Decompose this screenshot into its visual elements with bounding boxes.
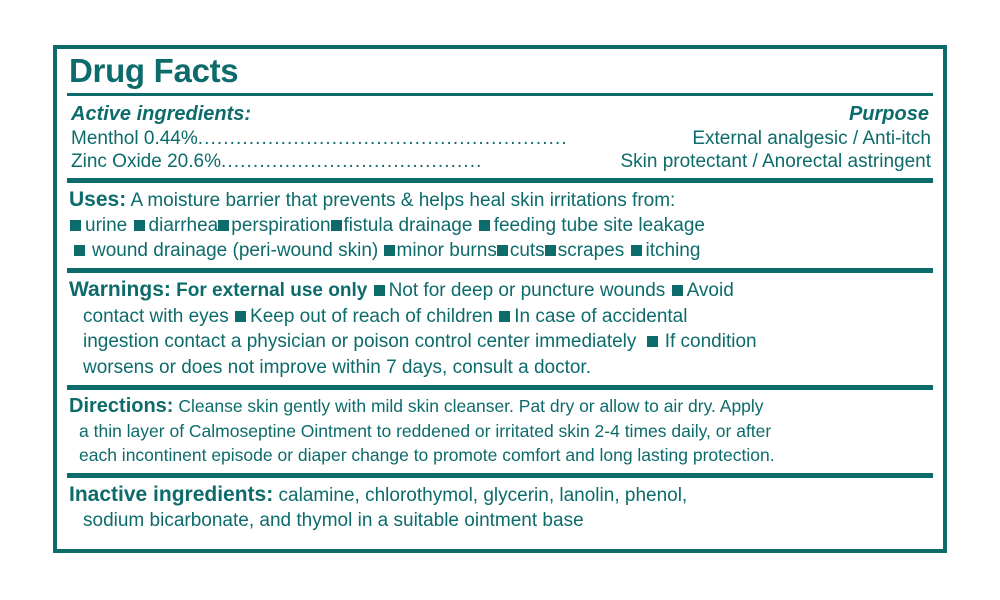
- square-bullet-icon: [545, 245, 556, 256]
- leader-dots: ........................................…: [198, 127, 693, 150]
- uses-items-line-2: wound drainage (peri-wound skin) minor b…: [69, 238, 931, 263]
- warnings-line-4: worsens or does not improve within 7 day…: [69, 355, 931, 381]
- ingredient-purpose: Skin protectant / Anorectal astringent: [620, 150, 931, 173]
- inactive-ingredients-label: Inactive ingredients:: [69, 483, 273, 506]
- directions-label: Directions:: [69, 395, 173, 417]
- square-bullet-icon: [479, 220, 490, 231]
- warning-item: worsens or does not improve within 7 day…: [83, 357, 591, 378]
- section-directions: Directions: Cleanse skin gently with mil…: [57, 390, 943, 473]
- active-ingredient-row: Menthol 0.44% ..........................…: [69, 127, 931, 150]
- ingredient-purpose: External analgesic / Anti-itch: [692, 127, 931, 150]
- drug-facts-panel: Drug Facts Active ingredients: Purpose M…: [53, 45, 947, 553]
- uses-item: diarrhea: [149, 215, 219, 236]
- section-active-ingredients: Active ingredients: Purpose Menthol 0.44…: [57, 96, 943, 178]
- directions-line-1: Directions: Cleanse skin gently with mil…: [69, 394, 931, 419]
- square-bullet-icon: [134, 220, 145, 231]
- warnings-line-3: ingestion contact a physician or poison …: [69, 329, 931, 355]
- warning-item: Not for deep or puncture wounds: [389, 280, 666, 301]
- square-bullet-icon: [384, 245, 395, 256]
- uses-item: fistula drainage: [344, 215, 473, 236]
- warnings-line-1: Warnings: For external use only Not for …: [69, 277, 931, 304]
- uses-item: perspiration: [231, 215, 330, 236]
- inactive-line-1: Inactive ingredients: calamine, chloroth…: [69, 482, 931, 508]
- uses-item: itching: [646, 240, 701, 261]
- uses-intro-line: Uses: A moisture barrier that prevents &…: [69, 187, 931, 213]
- square-bullet-icon: [331, 220, 342, 231]
- uses-item: wound drainage (peri-wound skin): [92, 240, 378, 261]
- directions-text: Cleanse skin gently with mild skin clean…: [178, 396, 763, 416]
- inactive-ingredients-text: sodium bicarbonate, and thymol in a suit…: [83, 510, 584, 531]
- square-bullet-icon: [497, 245, 508, 256]
- uses-items-line-1: urine diarrheaperspirationfistula draina…: [69, 213, 931, 238]
- warning-item: In case of accidental: [514, 306, 687, 327]
- square-bullet-icon: [672, 285, 683, 296]
- square-bullet-icon: [374, 285, 385, 296]
- page-title: Drug Facts: [69, 51, 931, 91]
- uses-item: feeding tube site leakage: [494, 215, 705, 236]
- square-bullet-icon: [499, 311, 510, 322]
- active-ingredients-label: Active ingredients:: [71, 102, 251, 126]
- square-bullet-icon: [218, 220, 229, 231]
- leader-dots: ........................................…: [221, 150, 621, 173]
- uses-item: scrapes: [558, 240, 625, 261]
- panel-bottom-spacer: [57, 538, 943, 550]
- square-bullet-icon: [235, 311, 246, 322]
- drug-facts-header: Drug Facts: [57, 49, 943, 91]
- directions-line-2: a thin layer of Calmoseptine Ointment to…: [69, 419, 931, 444]
- warning-item: ingestion contact a physician or poison …: [83, 331, 636, 352]
- square-bullet-icon: [70, 220, 81, 231]
- uses-item: urine: [85, 215, 127, 236]
- active-ingredient-row: Zinc Oxide 20.6% .......................…: [69, 150, 931, 173]
- directions-line-3: each incontinent episode or diaper chang…: [69, 443, 931, 468]
- uses-intro-text: A moisture barrier that prevents & helps…: [130, 190, 675, 211]
- section-uses: Uses: A moisture barrier that prevents &…: [57, 183, 943, 268]
- warning-item: contact with eyes: [83, 306, 229, 327]
- square-bullet-icon: [74, 245, 85, 256]
- purpose-label: Purpose: [849, 102, 929, 126]
- warning-item: Keep out of reach of children: [250, 306, 493, 327]
- warnings-line-2: contact with eyes Keep out of reach of c…: [69, 304, 931, 330]
- directions-text: each incontinent episode or diaper chang…: [79, 445, 775, 465]
- square-bullet-icon: [647, 336, 658, 347]
- section-inactive-ingredients: Inactive ingredients: calamine, chloroth…: [57, 478, 943, 538]
- uses-item: minor burns: [397, 240, 497, 261]
- uses-item: cuts: [510, 240, 545, 261]
- inactive-ingredients-text: calamine, chlorothymol, glycerin, lanoli…: [279, 485, 688, 506]
- inactive-line-2: sodium bicarbonate, and thymol in a suit…: [69, 508, 931, 533]
- warning-item: Avoid: [687, 280, 734, 301]
- active-ingredients-heading-row: Active ingredients: Purpose: [69, 100, 931, 127]
- section-warnings: Warnings: For external use only Not for …: [57, 273, 943, 385]
- directions-text: a thin layer of Calmoseptine Ointment to…: [79, 421, 771, 441]
- ingredient-name: Zinc Oxide 20.6%: [71, 150, 221, 173]
- uses-label: Uses:: [69, 188, 126, 211]
- ingredient-name: Menthol 0.44%: [71, 127, 198, 150]
- warnings-lead-text: For external use only: [176, 280, 367, 301]
- square-bullet-icon: [631, 245, 642, 256]
- warnings-label: Warnings:: [69, 278, 171, 301]
- warning-item: If condition: [665, 331, 757, 352]
